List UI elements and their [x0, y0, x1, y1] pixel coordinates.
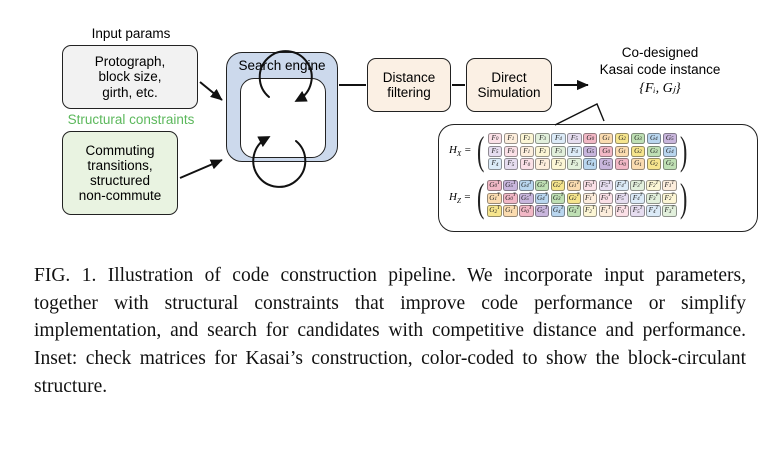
matrix-cell: G5T [535, 205, 549, 216]
matrix-cell: F4 [567, 146, 581, 157]
matrix-cell: F3T [662, 205, 676, 216]
matrix-cell: F0T [583, 180, 597, 191]
matrix-cell: F4 [488, 158, 502, 169]
search-loop-panel [240, 78, 326, 158]
matrix-cell: F3T [646, 193, 660, 204]
matrix-cell: F1 [520, 146, 534, 157]
constraints-line-1: Commuting [85, 143, 154, 158]
matrix-cell: G0 [583, 133, 597, 144]
matrix-cell: F0T [599, 193, 613, 204]
matrix-cell: G3T [567, 205, 581, 216]
input-params-label: Input params [66, 26, 196, 41]
matrix-cell: F0 [520, 158, 534, 169]
arrow-input-to-engine [200, 82, 222, 100]
matrix-cell: G2T [551, 180, 565, 191]
figure-caption: FIG. 1. Illustration of code constructio… [34, 262, 746, 400]
matrix-cell: G2 [615, 133, 629, 144]
matrix-cell: F3T [630, 180, 644, 191]
matrix-cell: G1T [503, 205, 517, 216]
matrix-cell: F3 [535, 133, 549, 144]
output-line-3: {Fᵢ, Gⱼ} [560, 80, 760, 97]
constraints-line-3: structured [90, 173, 150, 188]
matrix-cell: G4 [647, 133, 661, 144]
matrix-cell: F2 [535, 146, 549, 157]
matrix-cell: G2 [631, 146, 645, 157]
matrix-cell: G4T [519, 180, 533, 191]
matrix-row: F5F0F1F2F3F4G5G0G1G2G3G4 [488, 146, 677, 157]
matrix-cell: G1 [599, 133, 613, 144]
matrix-cell: G2T [487, 205, 501, 216]
matrix-cell: G1 [631, 158, 645, 169]
matrix-cell: G4T [535, 193, 549, 204]
input-line-2: block size, [98, 69, 161, 84]
matrix-cell: F2T [662, 193, 676, 204]
structural-constraints-box: Commuting transitions, structured non-co… [62, 131, 178, 215]
matrix-cell: G0T [503, 193, 517, 204]
matrix-cell: F4T [615, 180, 629, 191]
matrix-row: G2TG1TG0TG5TG4TG3TF2TF1TF0TF5TF4TF3T [487, 205, 676, 216]
check-matrices-inset: HX = ( F0F1F2F3F4F5G0G1G2G3G4G5F5F0F1F2F… [438, 124, 758, 232]
matrix-row: F4F5F0F1F2F3G4G5G0G1G2G3 [488, 158, 677, 169]
matrix-cell: F0T [615, 205, 629, 216]
distance-line-1: Distance [383, 70, 436, 85]
simulation-line-2: Simulation [477, 85, 540, 100]
matrix-cell: G0T [519, 205, 533, 216]
matrix-cell: F1T [599, 205, 613, 216]
direct-simulation-box: Direct Simulation [466, 58, 552, 112]
matrix-cell: G5T [503, 180, 517, 191]
matrix-cell: F2 [520, 133, 534, 144]
hx-matrix-row: HX = ( F0F1F2F3F4F5G0G1G2G3G4G5F5F0F1F2F… [449, 133, 690, 170]
matrix-cell: G3 [631, 133, 645, 144]
matrix-cell: F1 [535, 158, 549, 169]
hx-grid: F0F1F2F3F4F5G0G1G2G3G4G5F5F0F1F2F3F4G5G0… [488, 133, 677, 170]
hz-grid: G0TG5TG4TG3TG2TG1TF0TF5TF4TF3TF2TF1TG1TG… [487, 180, 676, 217]
hz-matrix-row: HZ = ( G0TG5TG4TG3TG2TG1TF0TF5TF4TF3TF2T… [449, 180, 690, 217]
matrix-cell: F5T [630, 205, 644, 216]
matrix-cell: F0 [488, 133, 502, 144]
matrix-cell: F4 [551, 133, 565, 144]
matrix-cell: G3 [647, 146, 661, 157]
matrix-row: G1TG0TG5TG4TG3TG2TF1TF0TF5TF4TF3TF2T [487, 193, 676, 204]
search-engine-label: Search engine [238, 58, 325, 73]
output-line-2: Kasai code instance [560, 62, 760, 77]
matrix-cell: G3T [551, 193, 565, 204]
matrix-cell: F1T [662, 180, 676, 191]
matrix-cell: F5 [504, 158, 518, 169]
matrix-cell: G3 [663, 158, 677, 169]
matrix-cell: G5 [583, 146, 597, 157]
constraints-line-2: transitions, [87, 158, 152, 173]
matrix-cell: F2T [646, 180, 660, 191]
matrix-cell: F4T [630, 193, 644, 204]
matrix-cell: F1 [504, 133, 518, 144]
matrix-cell: F1T [583, 193, 597, 204]
hx-label: HX = [449, 144, 471, 158]
matrix-cell: F2T [583, 205, 597, 216]
matrix-cell: G2 [647, 158, 661, 169]
inset-pointer [555, 104, 604, 125]
matrix-cell: F5T [599, 180, 613, 191]
input-line-1: Protograph, [95, 54, 166, 69]
matrix-cell: G5 [663, 133, 677, 144]
matrix-cell: F5T [615, 193, 629, 204]
matrix-cell: F2 [551, 158, 565, 169]
matrix-cell: G4T [551, 205, 565, 216]
figure-diagram: Input params Protograph, block size, gir… [0, 0, 780, 260]
matrix-cell: F4T [646, 205, 660, 216]
matrix-cell: G2T [567, 193, 581, 204]
matrix-cell: G1T [487, 193, 501, 204]
arrow-constraints-to-engine [180, 160, 222, 178]
matrix-cell: G0T [487, 180, 501, 191]
matrix-cell: G0 [599, 146, 613, 157]
output-line-1: Co-designed [560, 45, 760, 60]
simulation-line-1: Direct [491, 70, 526, 85]
matrix-cell: G4 [583, 158, 597, 169]
matrix-cell: G3T [535, 180, 549, 191]
matrix-cell: G5T [519, 193, 533, 204]
matrix-cell: G1 [615, 146, 629, 157]
matrix-cell: G0 [615, 158, 629, 169]
matrix-row: G0TG5TG4TG3TG2TG1TF0TF5TF4TF3TF2TF1T [487, 180, 676, 191]
constraints-line-4: non-commute [79, 188, 162, 203]
distance-filtering-box: Distance filtering [367, 58, 451, 112]
matrix-cell: F5 [567, 133, 581, 144]
matrix-cell: G4 [663, 146, 677, 157]
matrix-cell: G1T [567, 180, 581, 191]
matrix-row: F0F1F2F3F4F5G0G1G2G3G4G5 [488, 133, 677, 144]
matrix-cell: F3 [551, 146, 565, 157]
distance-line-2: filtering [387, 85, 431, 100]
matrix-cell: G5 [599, 158, 613, 169]
matrix-cell: F0 [504, 146, 518, 157]
matrix-cell: F5 [488, 146, 502, 157]
input-params-box: Protograph, block size, girth, etc. [62, 45, 198, 109]
hz-label: HZ = [449, 191, 471, 205]
input-line-3: girth, etc. [102, 85, 158, 100]
structural-constraints-label: Structural constraints [42, 112, 220, 127]
matrix-cell: F3 [567, 158, 581, 169]
